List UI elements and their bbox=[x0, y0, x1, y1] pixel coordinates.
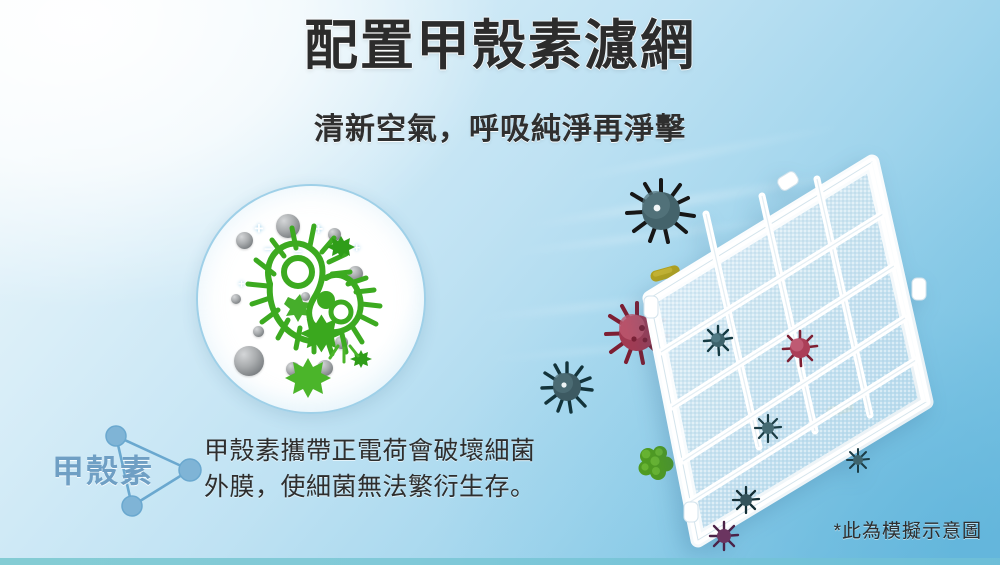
chitosan-filter-panel bbox=[640, 150, 960, 550]
magnified-bacteria-view: + − + − + + bbox=[196, 184, 426, 414]
bottom-accent-strip bbox=[0, 558, 1000, 565]
chitosan-label: 甲殼素 bbox=[52, 446, 154, 492]
disclaimer-note: *此為模擬示意圖 bbox=[834, 516, 982, 543]
virus-germ-teal bbox=[536, 356, 598, 418]
page-subtitle: 清新空氣，呼吸純淨再淨擊 bbox=[0, 104, 1000, 148]
chitosan-description: 甲殼素攜帶正電荷會破壞細菌外膜，使細菌無法繁衍生存。 bbox=[204, 434, 544, 505]
page-title: 配置甲殼素濾網 bbox=[0, 18, 1000, 75]
bacterium-illustration bbox=[198, 186, 424, 412]
poster-canvas: 配置甲殼素濾網 清新空氣，呼吸純淨再淨擊 + − + − + + bbox=[0, 0, 1000, 565]
